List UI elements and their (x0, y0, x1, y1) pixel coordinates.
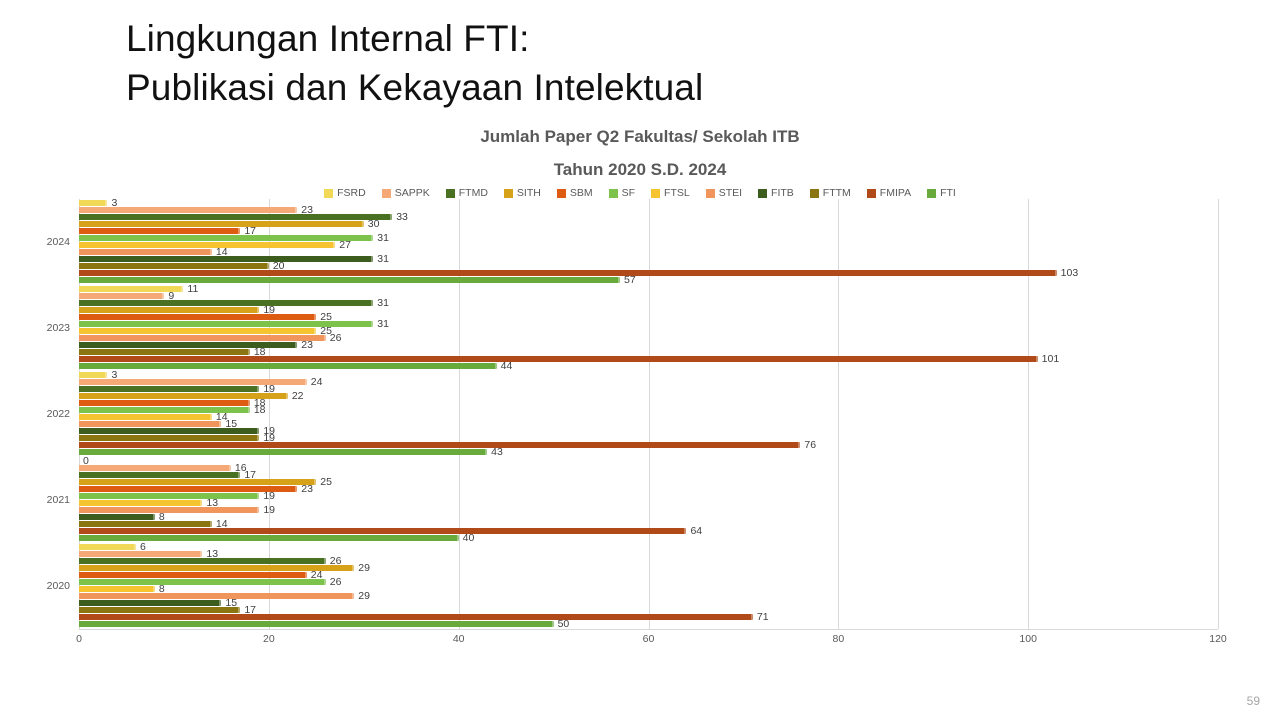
bar-row: 13 (79, 551, 1218, 557)
bar-row: 14 (79, 521, 1218, 527)
legend-label: FSRD (337, 187, 366, 199)
bar-row: 31 (79, 256, 1218, 262)
bar-value-label: 44 (497, 360, 513, 372)
bar-fitb-2022[interactable] (79, 428, 259, 434)
bar-stei-2021[interactable] (79, 507, 259, 513)
legend-item-sbm[interactable]: SBM (557, 187, 593, 199)
legend-item-sith[interactable]: SITH (504, 187, 541, 199)
bar-row: 27 (79, 242, 1218, 248)
bar-value-label: 57 (620, 274, 636, 286)
bar-fti-2024[interactable] (79, 277, 620, 283)
bar-sbm-2022[interactable] (79, 400, 250, 406)
bar-group-2021: 0161725231913198146440 (79, 457, 1218, 543)
bar-fti-2023[interactable] (79, 363, 497, 369)
bar-row: 0 (79, 458, 1218, 464)
bar-fttm-2020[interactable] (79, 607, 240, 613)
legend-swatch-icon (810, 189, 819, 198)
bar-row: 71 (79, 614, 1218, 620)
bar-row: 3 (79, 372, 1218, 378)
legend-item-fmipa[interactable]: FMIPA (867, 187, 911, 199)
bar-sbm-2023[interactable] (79, 314, 316, 320)
bar-row: 13 (79, 500, 1218, 506)
bar-row: 3 (79, 200, 1218, 206)
bar-row: 24 (79, 379, 1218, 385)
bar-row: 31 (79, 321, 1218, 327)
y-axis-category-label: 2024 (0, 236, 70, 248)
slide-title: Lingkungan Internal FTI: Publikasi dan K… (126, 14, 1126, 112)
legend-swatch-icon (504, 189, 513, 198)
bar-row: 11 (79, 286, 1218, 292)
bar-fsrd-2020[interactable] (79, 544, 136, 550)
bar-sf-2021[interactable] (79, 493, 259, 499)
page-number: 59 (1247, 694, 1260, 708)
bar-fitb-2020[interactable] (79, 600, 221, 606)
bar-ftmd-2021[interactable] (79, 472, 240, 478)
bar-ftsl-2021[interactable] (79, 500, 202, 506)
legend-item-fitb[interactable]: FITB (758, 187, 794, 199)
bar-row: 29 (79, 593, 1218, 599)
bar-row: 19 (79, 493, 1218, 499)
bar-row: 8 (79, 586, 1218, 592)
bar-row: 50 (79, 621, 1218, 627)
bar-fmipa-2023[interactable] (79, 356, 1038, 362)
legend-item-stei[interactable]: STEI (706, 187, 742, 199)
bar-fsrd-2024[interactable] (79, 200, 107, 206)
bar-fttm-2023[interactable] (79, 349, 250, 355)
bar-row: 18 (79, 407, 1218, 413)
bar-fmipa-2022[interactable] (79, 442, 800, 448)
bar-fti-2021[interactable] (79, 535, 459, 541)
bar-sappk-2023[interactable] (79, 293, 164, 299)
x-axis-tick-label: 60 (643, 633, 655, 645)
bar-stei-2022[interactable] (79, 421, 221, 427)
x-axis-tick-label: 40 (453, 633, 465, 645)
bar-row: 57 (79, 277, 1218, 283)
bar-row: 31 (79, 235, 1218, 241)
bar-stei-2023[interactable] (79, 335, 326, 341)
legend-swatch-icon (867, 189, 876, 198)
bar-row: 17 (79, 607, 1218, 613)
legend-label: FTSL (664, 187, 690, 199)
legend-label: FTTM (823, 187, 851, 199)
bar-sbm-2024[interactable] (79, 228, 240, 234)
bar-row: 23 (79, 207, 1218, 213)
bar-row: 33 (79, 214, 1218, 220)
chart-subtitle: Tahun 2020 S.D. 2024 (0, 160, 1280, 180)
bar-row: 25 (79, 328, 1218, 334)
bar-ftsl-2020[interactable] (79, 586, 155, 592)
bar-row: 19 (79, 428, 1218, 434)
legend-label: FMIPA (880, 187, 911, 199)
bar-row: 17 (79, 228, 1218, 234)
legend-swatch-icon (324, 189, 333, 198)
x-axis-tick-label: 20 (263, 633, 275, 645)
legend-item-fsrd[interactable]: FSRD (324, 187, 366, 199)
bar-group-2024: 323333017312714312010357 (79, 199, 1218, 285)
legend-swatch-icon (758, 189, 767, 198)
bar-ftmd-2024[interactable] (79, 214, 392, 220)
bar-sf-2024[interactable] (79, 235, 373, 241)
x-axis-tick-label: 0 (76, 633, 82, 645)
bar-row: 24 (79, 572, 1218, 578)
bar-row: 19 (79, 386, 1218, 392)
bar-row: 14 (79, 249, 1218, 255)
bar-row: 25 (79, 314, 1218, 320)
legend-item-ftsl[interactable]: FTSL (651, 187, 690, 199)
bar-fti-2020[interactable] (79, 621, 554, 627)
bar-ftmd-2022[interactable] (79, 386, 259, 392)
bar-row: 8 (79, 514, 1218, 520)
bar-row: 15 (79, 421, 1218, 427)
bar-row: 6 (79, 544, 1218, 550)
bar-fsrd-2022[interactable] (79, 372, 107, 378)
bar-row: 40 (79, 535, 1218, 541)
bar-value-label: 50 (554, 618, 570, 630)
bar-fttm-2024[interactable] (79, 263, 269, 269)
bar-sith-2023[interactable] (79, 307, 259, 313)
x-axis-tick-label: 80 (832, 633, 844, 645)
bar-fmipa-2020[interactable] (79, 614, 753, 620)
bar-row: 43 (79, 449, 1218, 455)
bar-row: 103 (79, 270, 1218, 276)
chart-plot-area: 3233330173127143120103571193119253125262… (79, 199, 1218, 629)
bar-ftmd-2023[interactable] (79, 300, 373, 306)
x-axis-tick-label: 120 (1209, 633, 1227, 645)
bar-row: 76 (79, 442, 1218, 448)
legend-label: STEI (719, 187, 742, 199)
bar-sf-2020[interactable] (79, 579, 326, 585)
legend-label: FITB (771, 187, 794, 199)
bar-row: 26 (79, 579, 1218, 585)
bar-row: 64 (79, 528, 1218, 534)
bar-row: 25 (79, 479, 1218, 485)
legend-swatch-icon (609, 189, 618, 198)
legend-label: SF (622, 187, 635, 199)
bar-fttm-2022[interactable] (79, 435, 259, 441)
y-axis-category-label: 2021 (0, 494, 70, 506)
y-axis-category-label: 2020 (0, 580, 70, 592)
legend-swatch-icon (651, 189, 660, 198)
bar-fti-2022[interactable] (79, 449, 487, 455)
bar-sbm-2020[interactable] (79, 572, 307, 578)
bar-row: 44 (79, 363, 1218, 369)
legend-item-sappk[interactable]: SAPPK (382, 187, 430, 199)
bar-group-2020: 6132629242682915177150 (79, 543, 1218, 629)
bar-fitb-2021[interactable] (79, 514, 155, 520)
bar-stei-2020[interactable] (79, 593, 354, 599)
bar-stei-2024[interactable] (79, 249, 212, 255)
legend-swatch-icon (557, 189, 566, 198)
legend-item-fti[interactable]: FTI (927, 187, 956, 199)
legend-label: FTMD (459, 187, 488, 199)
bar-value-label: 40 (459, 532, 475, 544)
legend-label: FTI (940, 187, 956, 199)
bar-group-2022: 32419221818141519197643 (79, 371, 1218, 457)
bar-row: 20 (79, 263, 1218, 269)
bar-row: 26 (79, 335, 1218, 341)
chart-legend: FSRDSAPPKFTMDSITHSBMSFFTSLSTEIFITBFTTMFM… (0, 187, 1280, 199)
legend-swatch-icon (382, 189, 391, 198)
bar-row: 19 (79, 435, 1218, 441)
bar-row: 23 (79, 486, 1218, 492)
bar-value-label: 43 (487, 446, 503, 458)
bar-row: 26 (79, 558, 1218, 564)
y-axis-category-label: 2023 (0, 322, 70, 334)
legend-swatch-icon (446, 189, 455, 198)
gridline (1218, 199, 1219, 629)
legend-swatch-icon (706, 189, 715, 198)
legend-label: SAPPK (395, 187, 430, 199)
bar-row: 19 (79, 507, 1218, 513)
legend-item-sf[interactable]: SF (609, 187, 635, 199)
legend-item-ftmd[interactable]: FTMD (446, 187, 488, 199)
y-axis-category-label: 2022 (0, 408, 70, 420)
bar-row: 17 (79, 472, 1218, 478)
bar-row: 14 (79, 414, 1218, 420)
bar-group-2023: 119311925312526231810144 (79, 285, 1218, 371)
bar-fmipa-2021[interactable] (79, 528, 686, 534)
bar-ftmd-2020[interactable] (79, 558, 326, 564)
bar-fttm-2021[interactable] (79, 521, 212, 527)
bar-sith-2021[interactable] (79, 479, 316, 485)
bar-ftsl-2024[interactable] (79, 242, 335, 248)
bar-row: 101 (79, 356, 1218, 362)
legend-item-fttm[interactable]: FTTM (810, 187, 851, 199)
bar-ftsl-2022[interactable] (79, 414, 212, 420)
bar-sappk-2021[interactable] (79, 465, 231, 471)
bar-fitb-2024[interactable] (79, 256, 373, 262)
bar-row: 19 (79, 307, 1218, 313)
bar-sappk-2024[interactable] (79, 207, 297, 213)
chart-title: Jumlah Paper Q2 Fakultas/ Sekolah ITB (0, 127, 1280, 147)
legend-label: SITH (517, 187, 541, 199)
bar-row: 9 (79, 293, 1218, 299)
bar-sappk-2020[interactable] (79, 551, 202, 557)
legend-swatch-icon (927, 189, 936, 198)
x-axis-tick-label: 100 (1019, 633, 1037, 645)
x-axis-line (79, 629, 1218, 630)
bar-row: 31 (79, 300, 1218, 306)
bar-ftsl-2023[interactable] (79, 328, 316, 334)
bar-row: 29 (79, 565, 1218, 571)
bar-fmipa-2024[interactable] (79, 270, 1057, 276)
bar-sith-2024[interactable] (79, 221, 364, 227)
legend-label: SBM (570, 187, 593, 199)
